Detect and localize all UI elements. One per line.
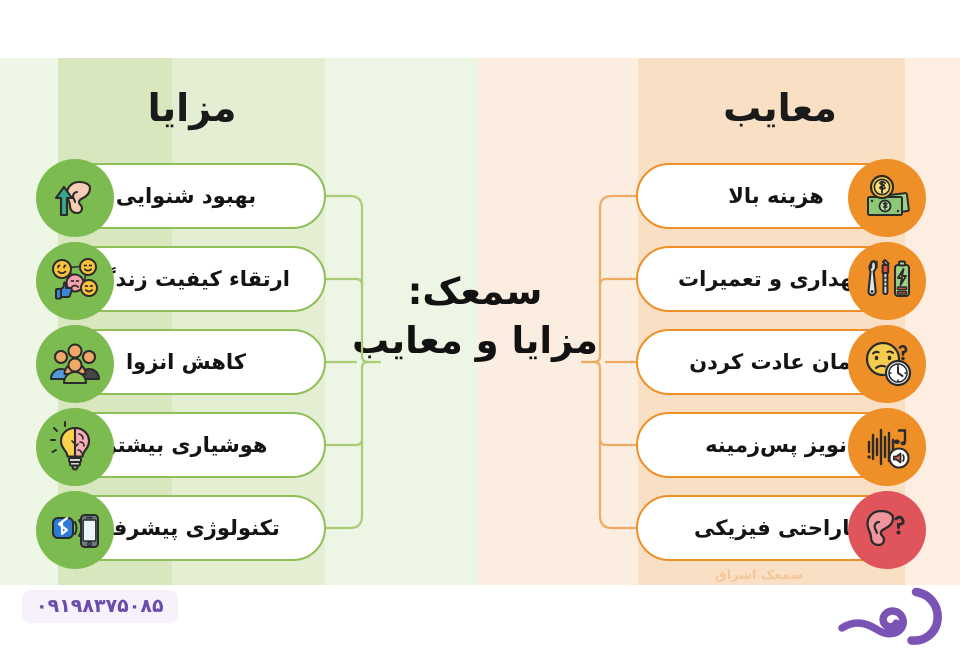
advantage-item-5[interactable]: تکنولوژی پیشرفته xyxy=(38,495,326,561)
lightbulb-brain-icon xyxy=(36,408,114,486)
center-title-line-1: سمعک: xyxy=(408,270,543,313)
left-bracket-connector xyxy=(324,160,408,580)
disadvantage-item-4[interactable]: نویز پس‌زمینه xyxy=(636,412,924,478)
disadvantage-item-5[interactable]: ناراحتی فیزیکی xyxy=(636,495,924,561)
phone-number: ۰۹۱۹۸۳۷۵۰۸۵ xyxy=(22,590,178,623)
advantage-item-3[interactable]: کاهش انزوا xyxy=(38,329,326,395)
money-coin-icon xyxy=(848,159,926,237)
advantage-item-4[interactable]: هوشیاری بیشتر xyxy=(38,412,326,478)
disadvantages-heading: معایب xyxy=(690,86,870,130)
purple-spiral-wave-logo xyxy=(828,570,948,656)
sound-wave-speaker-icon xyxy=(848,408,926,486)
confused-face-clock-icon xyxy=(848,325,926,403)
brand-watermark: سمعک اشراق xyxy=(715,568,803,583)
disadvantage-item-3[interactable]: زمان عادت کردن xyxy=(636,329,924,395)
ear-up-arrow-icon xyxy=(36,159,114,237)
bluetooth-phone-icon xyxy=(36,491,114,569)
right-bracket-connector xyxy=(552,160,638,580)
advantage-item-2[interactable]: ارتقاء کیفیت زندگی xyxy=(38,246,326,312)
advantage-item-1[interactable]: بهبود شنوایی xyxy=(38,163,326,229)
smiley-faces-thumbs-up-icon xyxy=(36,242,114,320)
infographic-canvas: مزایا معایب سمعک: مزایا و معایب xyxy=(0,0,960,656)
wrench-battery-icon xyxy=(848,242,926,320)
disadvantage-item-2[interactable]: نگهداری و تعمیرات xyxy=(636,246,924,312)
group-people-icon xyxy=(36,325,114,403)
disadvantage-item-1[interactable]: هزینه بالا xyxy=(636,163,924,229)
ear-question-icon xyxy=(848,491,926,569)
advantages-heading: مزایا xyxy=(112,86,272,130)
